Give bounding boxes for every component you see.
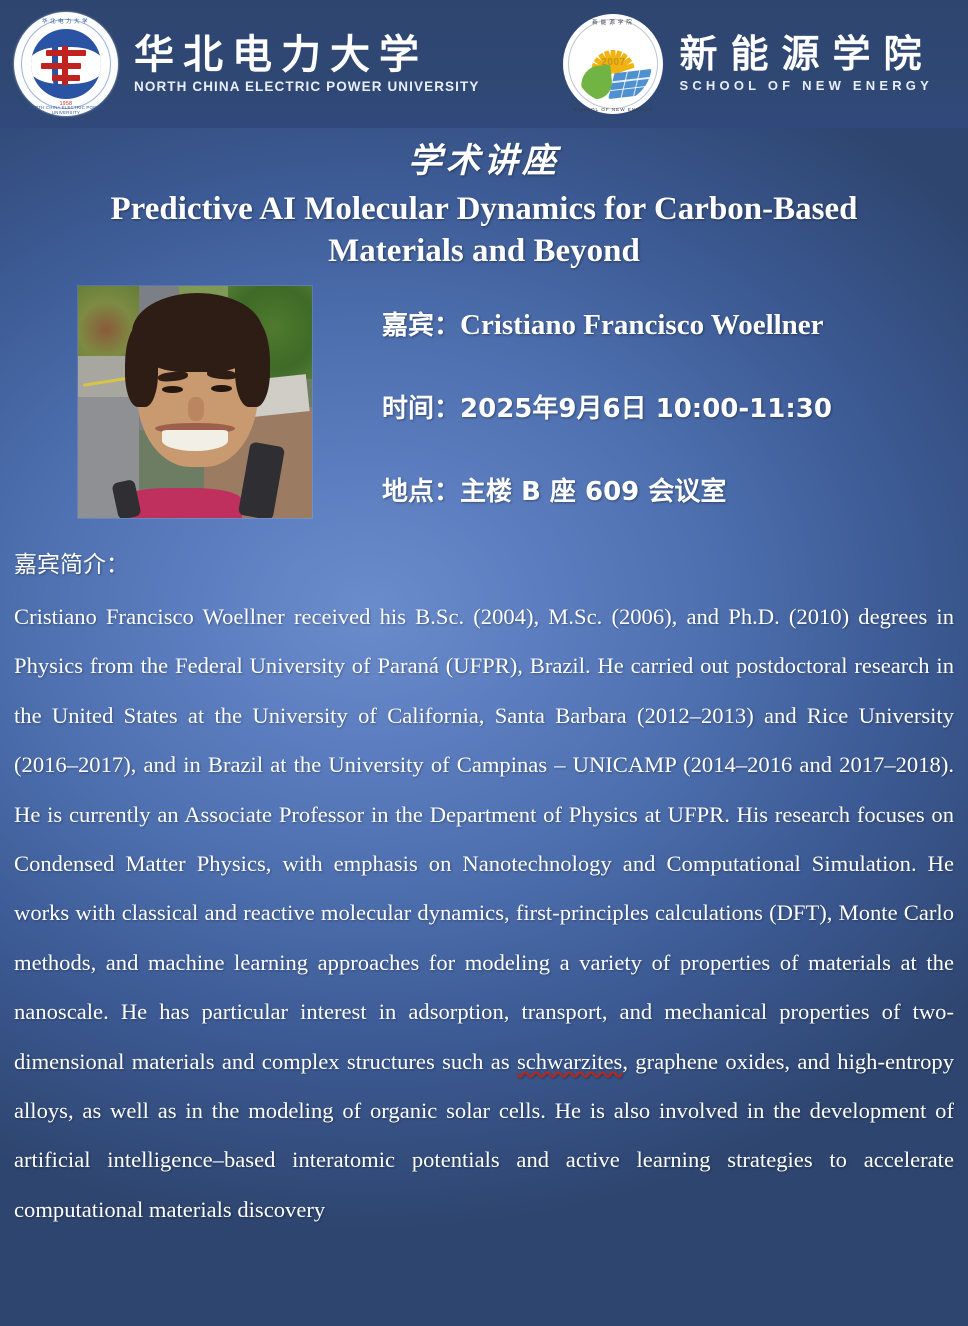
venue-row: 地点：主楼 B 座 609 会议室 — [382, 471, 942, 508]
bio-section-label: 嘉宾简介： — [14, 545, 129, 579]
seal-cn-arc-text: 华北电力大学 — [14, 17, 118, 25]
lecture-info-block: 嘉宾：Cristiano Francisco Woellner 时间：2025年… — [382, 305, 942, 554]
university-wordmark: 华北电力大学 NORTH CHINA ELECTRIC POWER UNIVER… — [134, 34, 479, 94]
ncepu-seal-icon: 华北电力大学 1958 NORTH CHINA ELECTRIC POWER U… — [14, 12, 118, 116]
venue-value: 主楼 B 座 609 会议室 — [460, 477, 726, 507]
bio-text-part-1: Cristiano Francisco Woellner received hi… — [14, 604, 954, 1074]
emblem-year-text: 2007 — [563, 57, 663, 68]
school-wordmark: 新能源学院 SCHOOL OF NEW ENERGY — [679, 35, 934, 93]
school-of-new-energy-emblem-icon: 新能源学院 2007 SCHOOL OF NEW ENERGY — [563, 14, 663, 114]
venue-label: 地点： — [382, 477, 460, 507]
school-logo-group: 新能源学院 2007 SCHOOL OF NEW ENERGY — [563, 14, 934, 114]
time-label: 时间： — [382, 394, 460, 424]
school-name-en: SCHOOL OF NEW ENERGY — [679, 78, 934, 93]
lecture-title-en: Predictive AI Molecular Dynamics for Car… — [46, 188, 922, 272]
lecture-poster: 华北电力大学 1958 NORTH CHINA ELECTRIC POWER U… — [0, 0, 968, 1326]
speaker-photo — [78, 286, 312, 518]
bio-text-part-2: , graphene oxides, and high-entropy allo… — [14, 1049, 954, 1222]
time-row: 时间：2025年9月6日 10:00-11:30 — [382, 388, 942, 425]
emblem-en-arc-text: SCHOOL OF NEW ENERGY — [563, 107, 663, 112]
speaker-value: Cristiano Francisco Woellner — [460, 309, 824, 341]
bio-paragraph: Cristiano Francisco Woellner received hi… — [14, 592, 954, 1234]
seal-en-arc-text: NORTH CHINA ELECTRIC POWER UNIVERSITY — [14, 105, 118, 115]
university-name-en: NORTH CHINA ELECTRIC POWER UNIVERSITY — [134, 79, 479, 94]
bio-misspelled-word: schwarzites — [517, 1049, 622, 1074]
speaker-row: 嘉宾：Cristiano Francisco Woellner — [382, 305, 942, 342]
school-name-cn: 新能源学院 — [679, 35, 934, 75]
header-band: 华北电力大学 1958 NORTH CHINA ELECTRIC POWER U… — [0, 0, 968, 128]
university-logo-group: 华北电力大学 1958 NORTH CHINA ELECTRIC POWER U… — [14, 12, 479, 116]
speaker-label: 嘉宾： — [382, 311, 460, 341]
university-name-cn: 华北电力大学 — [134, 34, 479, 76]
time-value: 2025年9月6日 10:00-11:30 — [460, 394, 832, 424]
lecture-type-title-cn: 学术讲座 — [0, 133, 968, 182]
